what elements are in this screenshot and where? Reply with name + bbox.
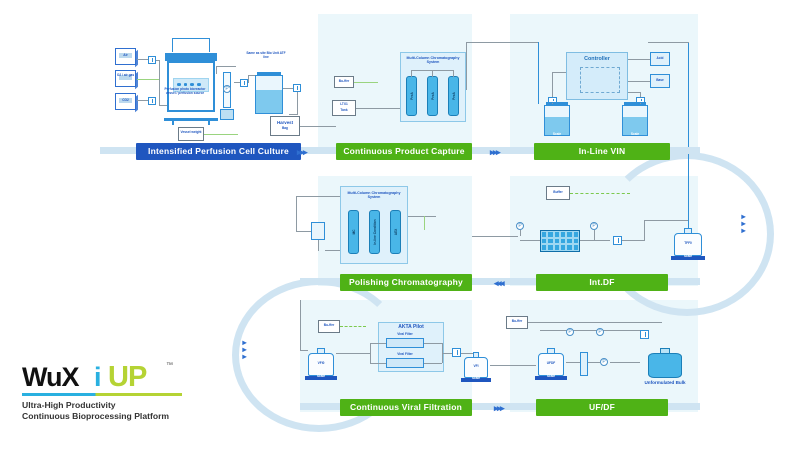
vin-tank-left <box>544 102 570 136</box>
polish-column-2-label: In-line Condition <box>373 219 377 244</box>
mcc-capture-title: Multi-Column Chromatography System <box>401 56 465 64</box>
pipe-weight-signal <box>204 134 238 135</box>
intdf-buffer-signal <box>570 193 630 194</box>
pipe-o2-to-valve <box>137 79 159 80</box>
pipe-ufdf-top-rail2 <box>540 330 648 331</box>
inline-tank-sub: Tank <box>332 109 356 113</box>
intdf-valve <box>613 236 622 245</box>
vin-controller-label: Controller <box>567 56 627 62</box>
akta-filter-2 <box>386 358 424 368</box>
stage-pill-intdf[interactable]: Int.DF <box>536 274 668 291</box>
intdf-gauge-2: P <box>590 222 598 230</box>
pipe-akta-in-1 <box>370 343 386 344</box>
pipe-capture-buffer <box>354 82 378 83</box>
pipe-harvest-to-capture <box>300 126 336 127</box>
ufdf-gauge-3: P <box>600 358 608 366</box>
pipe-ctrl-right <box>628 92 640 93</box>
stage-arrow-row2-a: ◂◂◂ <box>494 279 503 288</box>
stage-pill-ufdf[interactable]: UF/DF <box>536 399 668 416</box>
polish-column-1: MC <box>348 210 359 254</box>
gas-bag-air-label: Air <box>115 54 136 58</box>
ufdf-tank-sub: Scale <box>536 375 566 379</box>
pipe-bioreactor-top-bridge <box>172 38 210 39</box>
pipe-capture-col3-up <box>453 70 454 77</box>
pipe-ufdf-in <box>490 365 536 366</box>
pipe-polish-out <box>408 216 436 217</box>
vin-tank-right-label: Scale <box>622 133 648 137</box>
surge-tank <box>255 72 283 114</box>
stage-pill-vin[interactable]: In-Line VIN <box>534 143 670 160</box>
vin-base-label: Base <box>650 79 670 83</box>
pipe-gas-header-top <box>156 60 160 61</box>
cvf-out-valve <box>452 348 461 357</box>
stage-pill-cvf[interactable]: Continuous Viral Filtration <box>340 399 472 416</box>
akta-filter-2-label: Viral Filter <box>386 353 424 357</box>
cvf-buffer-signal <box>340 326 366 327</box>
ufdf-gauge-2: P <box>596 328 604 336</box>
ufdf-gauge-1: P <box>566 328 574 336</box>
akta-pilot-title: AKTA Pilot <box>379 325 443 329</box>
pipe-akta-to-valve <box>442 353 452 354</box>
vessel-weight-label: Vessel weight <box>178 131 204 135</box>
intdf-tank-sub: Scale <box>672 255 704 259</box>
pipe-polish-signal <box>424 216 425 230</box>
pipe-harvest-in <box>289 114 298 115</box>
pipe-ctrl-left <box>552 72 566 73</box>
pipe-akta-feed <box>336 353 370 354</box>
intdf-tank-label: TFF0 <box>672 242 704 246</box>
pipe-capture-out <box>466 42 467 90</box>
harvest-label: Harvest <box>270 121 300 125</box>
ufdf-tank-label: UFDF <box>536 362 566 366</box>
gas-valve-top <box>148 56 156 64</box>
pipe-cvf-feed-in <box>300 350 308 351</box>
cvf-buffer-label: Bu-ffer <box>318 324 340 328</box>
polish-inlet-box <box>311 222 325 240</box>
pipe-vin-out-top <box>648 42 689 43</box>
pipe-mcc-feed <box>356 108 400 109</box>
pipe-atf-to-valve <box>234 82 240 83</box>
logo-up-text: UP <box>108 361 146 394</box>
pipe-atf-to-vessel <box>216 66 217 74</box>
pipe-ufdf-module-in <box>566 362 580 363</box>
atf-pump: P <box>223 85 231 93</box>
stage-arrow-row3-a: ▸▸▸ <box>494 404 503 413</box>
capture-column-1-label: ProA <box>410 92 414 100</box>
vin-controller: Controller <box>566 52 628 100</box>
ufdf-valve-top <box>640 330 649 339</box>
gas-valve-bottom <box>148 97 156 105</box>
logo-trademark: ™ <box>166 362 173 369</box>
capture-buffer-label: Bu-ffer <box>334 80 354 84</box>
pipe-bioreactor-top-left <box>172 38 173 52</box>
ufdf-module <box>580 352 588 376</box>
pipe-air-to-valve <box>137 59 148 60</box>
diagram-canvas: ▸▸▸ ▸▸▸ Air O2 / air gas CO2 Perfusion p… <box>0 0 800 450</box>
intdf-buffer-label: Buffer <box>546 191 570 195</box>
stage-arrow-row1-b: ▸▸▸ <box>490 148 499 157</box>
vin-tank-left-label: Scale <box>544 133 570 137</box>
vin-valve-right <box>636 97 645 103</box>
pipe-capture-col2-up <box>432 70 433 77</box>
logo-tagline-1: Ultra-High Productivity <box>22 400 182 411</box>
cvf-out-label: VFI <box>462 365 490 369</box>
logo-i-text: i <box>94 362 102 393</box>
akta-filter-1-label: Viral Filter <box>386 333 424 337</box>
pipe-acid-in <box>628 59 650 60</box>
atf-valve <box>240 79 248 87</box>
pipe-valve-to-surge <box>248 75 249 83</box>
pipe-gas-header-v <box>159 60 160 106</box>
pipe-bioreactor-top-right <box>209 38 210 52</box>
capture-column-2: ProA <box>427 76 438 116</box>
pipe-co2-to-valve <box>137 100 148 101</box>
capture-column-2-label: ProA <box>431 92 435 100</box>
unformulated-bulk-drum <box>648 348 682 378</box>
flow-arrow-down-right: ▸▸▸ <box>739 212 748 233</box>
pipe-intdf-to-tank-h2 <box>644 220 688 221</box>
unformulated-bulk-label: Unformulated Bulk <box>628 381 702 385</box>
cvf-out-sub: Scale <box>462 377 490 381</box>
stage-pill-polishing[interactable]: Polishing Chromatography <box>340 274 472 291</box>
logo-wux-text: WuX <box>22 362 79 393</box>
wuxi-up-logo: WuX i UP ™ Ultra-High Productivity Conti… <box>22 362 182 421</box>
pipe-intdf-gauge1-v <box>520 230 521 236</box>
pipe-valve-down-harvest <box>297 92 298 114</box>
inline-tank-label: LTX1 <box>332 103 356 107</box>
capture-column-3-label: ProA <box>452 92 456 100</box>
pipe-polish-inlet-top <box>296 196 342 197</box>
pipe-atf-arc <box>216 66 236 67</box>
pipe-intdf-to-tank-v <box>644 220 645 241</box>
pipe-membrane-out <box>580 240 610 241</box>
vin-acid-label: Acid <box>650 57 670 61</box>
gas-bag-o2-label: O2 / air gas <box>115 74 136 78</box>
stage-pill-capture[interactable]: Continuous Product Capture <box>336 143 472 160</box>
polish-column-2: In-line Condition <box>369 210 380 254</box>
pipe-membrane-in <box>520 240 540 241</box>
pipe-ufdf-top-rail <box>528 322 662 323</box>
atf-filter-stack <box>220 72 234 120</box>
pipe-capture-out-top <box>466 42 538 43</box>
pipe-intdf-gauge2-v <box>594 230 595 240</box>
pipe-polish-inlet-out-v <box>318 240 319 251</box>
pipe-ufdf-to-bulk <box>610 362 640 363</box>
polish-column-3-label: AEX <box>394 229 398 236</box>
stage-pill-perfusion[interactable]: Intensified Perfusion Cell Culture <box>136 143 301 160</box>
pipe-capture-col1-up <box>411 70 412 77</box>
pipe-akta-out-2 <box>424 363 442 364</box>
ufdf-buffer-label: Bu-ffer <box>506 320 528 324</box>
polish-column-3: AEX <box>390 210 401 254</box>
bioreactor-note-label: Perfusion photo bioreactor vessel / perf… <box>163 88 207 95</box>
logo-tagline-2: Continuous Bioprocessing Platform <box>22 411 182 422</box>
gas-bag-co2-label: CO2 <box>115 99 136 103</box>
vin-controller-dash <box>580 67 620 93</box>
polish-column-1-label: MC <box>352 230 356 235</box>
pipe-akta-in-2 <box>370 363 386 364</box>
vin-valve-left <box>548 97 557 103</box>
logo-color-bar <box>22 393 182 396</box>
cvf-feed-label: VFI0 <box>306 362 336 366</box>
capture-column-3: ProA <box>448 76 459 116</box>
capture-column-1: ProA <box>406 76 417 116</box>
atf-note-label: Same as site Bio Unit ATF line <box>246 52 286 59</box>
pipe-polish-inlet-left <box>296 196 297 231</box>
pipe-akta-out-1 <box>424 343 442 344</box>
akta-filter-1 <box>386 338 424 348</box>
pipe-base-in <box>628 81 650 82</box>
pipe-ufdf-module-out <box>588 362 600 363</box>
mcc-polish-title: Multi-Column Chromatography System <box>341 191 407 199</box>
pipe-polish-inlet-h <box>296 231 311 232</box>
pipe-akta-in-v <box>370 343 371 363</box>
harvest-valve <box>293 84 301 92</box>
pipe-intdf-in <box>472 236 518 237</box>
stage-arrow-row1-a: ▸▸▸ <box>297 148 306 157</box>
flow-arrow-down-left: ▸▸▸ <box>240 338 249 359</box>
intdf-tff-membrane <box>540 230 580 252</box>
pipe-intdf-to-tank <box>622 240 644 241</box>
pipe-surge-out <box>283 88 293 89</box>
cvf-feed-sub: Scale <box>306 375 336 379</box>
vin-tank-right <box>622 102 648 136</box>
intdf-gauge-1: P <box>516 222 524 230</box>
harvest-sub-label: Bag <box>270 127 300 131</box>
pipe-cvf-feed-up <box>300 300 301 350</box>
pipe-vin-feed <box>538 42 539 104</box>
